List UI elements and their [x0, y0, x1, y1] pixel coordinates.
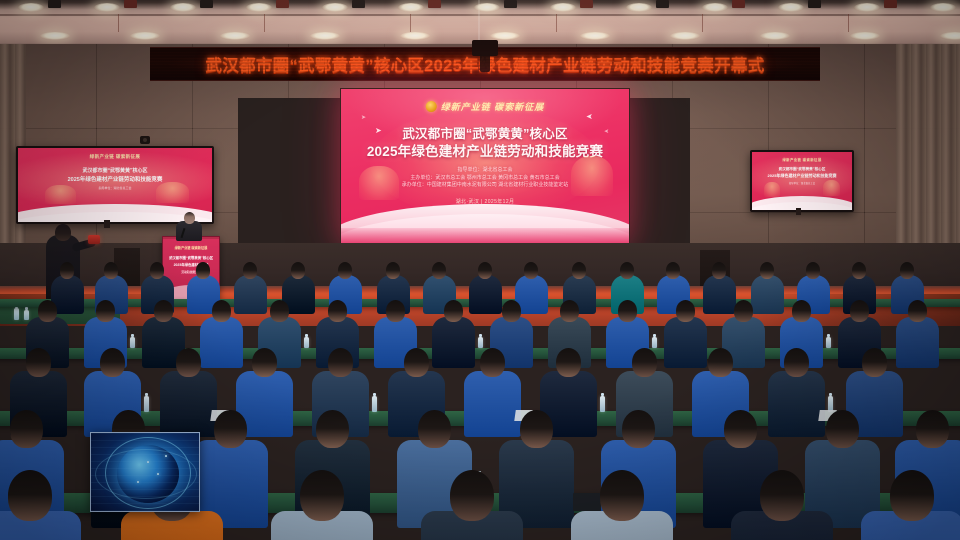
audience-head	[154, 300, 173, 322]
audience-head	[792, 300, 811, 322]
worker-silhouette-left	[359, 166, 399, 200]
audience-head	[450, 470, 494, 521]
water-bottle	[478, 337, 483, 349]
audience-head	[212, 300, 231, 322]
audience-head	[404, 348, 429, 377]
monitor-left-title1: 武汉都市圈“武鄂黄黄”核心区	[18, 167, 212, 174]
audience-head	[620, 262, 634, 279]
audience-head	[760, 262, 774, 279]
audience-head	[444, 300, 463, 322]
audience-head	[666, 262, 680, 279]
side-monitor-right: 绿新产业链 碳索新征展 武汉都市圈“武鄂黄黄”核心区 2025年绿色建材产业链劳…	[750, 150, 854, 212]
video-frame: 武汉都市圈“武鄂黄黄”核心区2025年绿色建材产业链劳动和技能竞赛开幕式 ➤ ➤…	[0, 0, 960, 540]
monitor-left-header: 绿新产业链 碳索新征展	[18, 154, 212, 160]
pip-scanline-grid	[91, 433, 199, 511]
water-bottle	[304, 337, 309, 349]
main-led-screen: ➤ ➤ ➤ ➤ 绿新产业链 碳索新征展 武汉都市圈“武鄂黄黄”核心区 2025年…	[340, 88, 630, 245]
monitor-wave-1	[752, 196, 852, 210]
water-bottle	[24, 310, 29, 320]
side-monitor-left: 绿新产业链 碳索新征展 武汉都市圈“武鄂黄黄”核心区 2025年绿色建材产业链劳…	[16, 146, 214, 224]
audience-head	[852, 262, 866, 279]
audience-head	[252, 348, 277, 377]
monitor-wave-1	[18, 204, 212, 222]
podium-line1: 武汉都市圈“武鄂黄黄”核心区	[163, 255, 219, 260]
water-bottle	[372, 396, 377, 411]
speaker-head	[184, 212, 195, 224]
audience-head	[316, 410, 349, 448]
monitor-left-title2: 2025年绿色建材产业链劳动和技能竞赛	[18, 175, 212, 183]
monitor-left-content: 绿新产业链 碳索新征展 武汉都市圈“武鄂黄黄”核心区 2025年绿色建材产业链劳…	[18, 148, 212, 222]
audience-torso	[896, 317, 939, 367]
audience-head	[784, 348, 809, 377]
audience-head	[676, 300, 695, 322]
camera-device	[88, 235, 100, 244]
audience-head	[104, 262, 118, 279]
audience-head	[806, 262, 820, 279]
laptop-screen-pip[interactable]	[90, 432, 200, 512]
water-bottle	[144, 396, 149, 411]
audience-head	[560, 300, 579, 322]
speaker-body	[176, 221, 202, 241]
audience-head	[418, 410, 451, 448]
audience-head	[862, 348, 887, 377]
monitor-silhouette-right	[156, 182, 189, 203]
audience-head	[328, 300, 347, 322]
water-bottle	[652, 337, 657, 349]
audience-torso	[160, 371, 217, 438]
audience-head	[328, 348, 353, 377]
union-badge-icon	[426, 101, 437, 112]
monitor-right-content: 绿新产业链 碳索新征展 武汉都市圈“武鄂黄黄”核心区 2025年绿色建材产业链劳…	[752, 152, 852, 210]
audience-head	[480, 348, 505, 377]
audience-head	[96, 300, 115, 322]
audience-head	[60, 262, 74, 279]
monitor-right-header: 绿新产业链 碳索新征展	[752, 157, 852, 162]
podium-line2: 2025年绿色建材产业链	[163, 262, 219, 267]
audience-head	[712, 262, 726, 279]
photographer-head	[55, 224, 71, 241]
audience-head	[618, 300, 637, 322]
audience-head	[632, 348, 657, 377]
audience-head	[478, 262, 492, 279]
audience-head	[572, 262, 586, 279]
monitor-silhouette-left	[764, 182, 780, 197]
monitor-right-title1: 武汉都市圈“武鄂黄黄”核心区	[752, 167, 852, 172]
water-bottle	[14, 308, 19, 320]
audience-head	[338, 262, 352, 279]
monitor-silhouette-right	[823, 180, 840, 196]
audience-head	[10, 410, 43, 448]
audience-torso	[664, 317, 707, 367]
monitor-right-title2: 2025年绿色建材产业链劳动和技能竞赛	[752, 173, 852, 179]
dove-icon: ➤	[361, 115, 366, 121]
audience-head	[386, 262, 400, 279]
audience-head	[556, 348, 581, 377]
audience-torso	[464, 371, 521, 438]
audience-head	[916, 410, 949, 448]
audience-head	[600, 470, 644, 521]
audience-head	[826, 410, 859, 448]
monitor-right-mount	[796, 208, 801, 215]
audience-head	[850, 300, 869, 322]
audience-torso	[432, 317, 475, 367]
monitor-left-mount	[104, 220, 110, 228]
podium-header: 绿新产业链 碳索新征展	[163, 245, 219, 250]
audience-head	[502, 300, 521, 322]
audience-head	[150, 262, 164, 279]
audience-head	[524, 262, 538, 279]
audience-head	[8, 470, 52, 521]
audience-head	[908, 300, 927, 322]
audience-head	[38, 300, 57, 322]
monitor-silhouette-left	[45, 185, 76, 204]
audience-torso	[768, 371, 825, 438]
audience-head	[622, 410, 655, 448]
podium-line3: 劳动和技能竞赛	[163, 270, 219, 274]
audience-head	[708, 348, 733, 377]
audience-head	[291, 262, 305, 279]
audience-head	[432, 262, 446, 279]
audience-torso	[234, 275, 267, 314]
water-bottle	[130, 337, 135, 349]
audience-torso	[469, 275, 502, 314]
audience-head	[900, 262, 914, 279]
water-bottle	[826, 337, 831, 349]
camera-stalk	[480, 54, 490, 72]
dove-icon: ➤	[586, 113, 593, 121]
audience-head	[176, 348, 201, 377]
audience-head	[100, 348, 125, 377]
audience-torso	[703, 275, 736, 314]
audience-head	[196, 262, 210, 279]
audience-head	[386, 300, 405, 322]
audience-head	[734, 300, 753, 322]
event-emblem: 绿新产业链 碳索新征展	[426, 100, 545, 113]
screen-slogan: 绿新产业链 碳索新征展	[441, 100, 545, 113]
audience-torso	[200, 317, 243, 367]
worker-silhouette-right	[571, 156, 613, 196]
ceiling-camera-left	[140, 136, 150, 144]
audience-head	[26, 348, 51, 377]
audience-head	[270, 300, 289, 322]
audience-head	[300, 470, 344, 521]
screen-bottom-band	[341, 228, 629, 244]
audience-torso	[751, 275, 784, 314]
audience-head	[243, 262, 257, 279]
audience-head	[760, 470, 804, 521]
water-bottle	[600, 396, 605, 411]
audience-head	[724, 410, 757, 448]
audience-head	[520, 410, 553, 448]
audience-head	[890, 470, 934, 521]
audience-head	[214, 410, 247, 448]
